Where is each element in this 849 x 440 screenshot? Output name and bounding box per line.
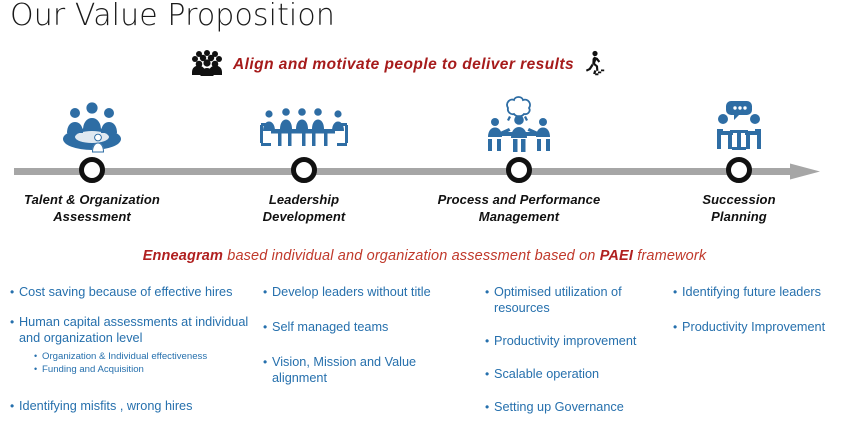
list-item-text: Productivity Improvement <box>682 319 843 335</box>
timeline-milestone-succession-planning[interactable]: Succession Planning <box>649 95 829 225</box>
timeline-milestone-process-performance-management[interactable]: Process and Performance Management <box>429 95 609 225</box>
list-item: • Vision, Mission and Value alignment <box>263 354 469 386</box>
list-item-text: Identifying misfits , wrong hires <box>19 398 249 414</box>
bullet-dot-icon: • <box>673 319 682 335</box>
benefit-column-talent: • Cost saving because of effective hires… <box>0 284 255 440</box>
page-title: Our Value Proposition <box>10 0 335 33</box>
bullet-dot-icon: • <box>485 366 494 382</box>
bullet-dot-icon: • <box>263 354 272 386</box>
list-item-text: Scalable operation <box>494 366 659 382</box>
timeline-marker-dot <box>79 157 105 183</box>
sub-list-item-text: Organization & Individual effectiveness <box>42 350 207 363</box>
conference-table-icon <box>214 95 394 153</box>
timeline-marker-dot <box>291 157 317 183</box>
sub-list-item: • Organization & Individual effectivenes… <box>10 350 249 363</box>
list-item: • Identifying future leaders <box>673 284 843 300</box>
list-item: • Productivity Improvement <box>673 319 843 335</box>
timeline-milestone-leadership-development[interactable]: Leadership Development <box>214 95 394 225</box>
label-line-2: Assessment <box>2 208 182 225</box>
timeline-milestone-label: Leadership Development <box>214 191 394 225</box>
list-item-text: Develop leaders without title <box>272 284 469 300</box>
list-item: • Optimised utilization of resources <box>485 284 659 316</box>
timeline: Talent & Organization Assessment <box>0 95 849 235</box>
list-item: • Self managed teams <box>263 319 469 335</box>
tagline-row: Align and motivate people to deliver res… <box>190 48 605 82</box>
label-line-1: Process and Performance <box>429 191 609 208</box>
timeline-marker-dot <box>506 157 532 183</box>
brainstorm-table-icon <box>429 95 609 153</box>
list-item-text: Self managed teams <box>272 319 469 335</box>
interview-speech-bubble-icon <box>649 95 829 153</box>
benefit-columns: • Cost saving because of effective hires… <box>0 284 849 440</box>
list-item-text: Vision, Mission and Value alignment <box>272 354 469 386</box>
label-line-2: Development <box>214 208 394 225</box>
benefit-column-succession: • Identifying future leaders • Productiv… <box>665 284 849 440</box>
paei-keyword: PAEI <box>600 248 633 264</box>
label-line-1: Talent & Organization <box>2 191 182 208</box>
runner-stairs-icon <box>583 50 605 81</box>
bullet-dot-icon: • <box>10 314 19 346</box>
bullet-dot-icon: • <box>10 284 19 300</box>
timeline-milestone-label: Succession Planning <box>649 191 829 225</box>
sub-list-item-text: Funding and Acquisition <box>42 363 144 376</box>
list-item: • Setting up Governance <box>485 399 659 415</box>
bullet-dot-icon: • <box>485 284 494 316</box>
list-item: • Cost saving because of effective hires <box>10 284 249 300</box>
benefit-column-leadership: • Develop leaders without title • Self m… <box>255 284 475 440</box>
enneagram-keyword: Enneagram <box>143 248 223 264</box>
bullet-dot-icon: • <box>673 284 682 300</box>
bullet-dot-icon: • <box>485 333 494 349</box>
bullet-dot-icon: • <box>34 363 42 376</box>
list-item: • Human capital assessments at individua… <box>10 314 249 346</box>
list-item-text: Optimised utilization of resources <box>494 284 659 316</box>
timeline-marker-dot <box>726 157 752 183</box>
list-item: • Productivity improvement <box>485 333 659 349</box>
label-line-2: Management <box>429 208 609 225</box>
bullet-dot-icon: • <box>34 350 42 363</box>
list-item-text: Human capital assessments at individual … <box>19 314 249 346</box>
enneagram-middle-text: based individual and organization assess… <box>223 248 600 264</box>
label-line-2: Planning <box>649 208 829 225</box>
timeline-milestone-label: Process and Performance Management <box>429 191 609 225</box>
list-item-text: Productivity improvement <box>494 333 659 349</box>
list-item-text: Identifying future leaders <box>682 284 843 300</box>
bullet-dot-icon: • <box>263 284 272 300</box>
list-item: • Develop leaders without title <box>263 284 469 300</box>
list-item: • Identifying misfits , wrong hires <box>10 398 249 414</box>
bullet-dot-icon: • <box>485 399 494 415</box>
benefit-column-process: • Optimised utilization of resources • P… <box>475 284 665 440</box>
people-cluster-icon <box>190 50 224 81</box>
label-line-1: Succession <box>649 191 829 208</box>
bullet-dot-icon: • <box>263 319 272 335</box>
list-item: • Scalable operation <box>485 366 659 382</box>
list-item-text: Cost saving because of effective hires <box>19 284 249 300</box>
list-item-text: Setting up Governance <box>494 399 659 415</box>
tagline-text: Align and motivate people to deliver res… <box>233 56 574 74</box>
sub-list-item: • Funding and Acquisition <box>10 363 249 376</box>
timeline-milestone-talent-organization-assessment[interactable]: Talent & Organization Assessment <box>2 95 182 225</box>
timeline-milestone-label: Talent & Organization Assessment <box>2 191 182 225</box>
round-table-meeting-icon <box>2 95 182 153</box>
bullet-dot-icon: • <box>10 398 19 414</box>
enneagram-trailing-text: framework <box>633 248 706 264</box>
sub-list: • Organization & Individual effectivenes… <box>10 350 249 376</box>
label-line-1: Leadership <box>214 191 394 208</box>
enneagram-framework-line: Enneagram based individual and organizat… <box>0 248 849 264</box>
